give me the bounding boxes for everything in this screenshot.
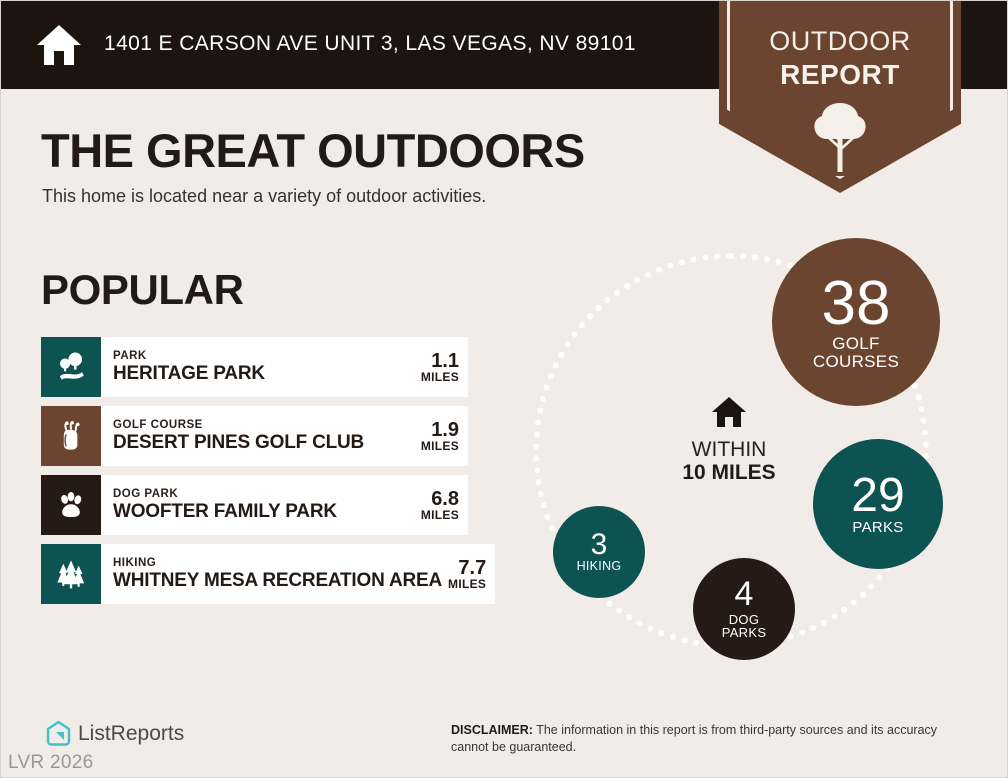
- list-item-name: HERITAGE PARK: [113, 364, 265, 384]
- list-item-body: GOLF COURSE DESERT PINES GOLF CLUB 1.9 M…: [101, 406, 468, 466]
- list-item-unit: MILES: [421, 440, 459, 452]
- badge-title-line1: OUTDOOR: [719, 26, 961, 57]
- disclaimer-label: DISCLAIMER:: [451, 723, 533, 737]
- listreports-house-icon: [45, 720, 72, 747]
- stat-value: 38: [822, 274, 891, 334]
- golf-bag-icon: [41, 406, 101, 466]
- stat-label-line1: DOG: [729, 613, 760, 627]
- tree-icon: [808, 101, 872, 173]
- list-item-unit: MILES: [421, 371, 459, 383]
- list-item[interactable]: DOG PARK WOOFTER FAMILY PARK 6.8 MILES: [41, 475, 468, 535]
- home-icon: [711, 396, 747, 428]
- list-item-category: DOG PARK: [113, 488, 337, 500]
- list-item[interactable]: HIKING WHITNEY MESA RECREATION AREA 7.7 …: [41, 544, 468, 604]
- stat-bubble-parks: 29 PARKS: [813, 439, 943, 569]
- within-label-line1: WITHIN: [641, 438, 817, 462]
- stat-bubble-dog-parks: 4 DOG PARKS: [693, 558, 795, 660]
- list-item[interactable]: GOLF COURSE DESERT PINES GOLF CLUB 1.9 M…: [41, 406, 468, 466]
- list-item-distance: 1.1: [421, 351, 459, 371]
- list-item-category: PARK: [113, 350, 265, 362]
- list-item-body: DOG PARK WOOFTER FAMILY PARK 6.8 MILES: [101, 475, 468, 535]
- list-item[interactable]: PARK HERITAGE PARK 1.1 MILES: [41, 337, 468, 397]
- stat-bubble-golf-courses: 38 GOLF COURSES: [772, 238, 940, 406]
- list-item-body: PARK HERITAGE PARK 1.1 MILES: [101, 337, 468, 397]
- home-icon: [36, 23, 82, 67]
- within-label-line2: 10 MILES: [641, 461, 817, 485]
- stat-label-line1: PARKS: [852, 520, 903, 536]
- list-item-unit: MILES: [448, 578, 486, 590]
- popular-heading: POPULAR: [41, 266, 244, 314]
- stat-label-line2: COURSES: [813, 353, 899, 371]
- outdoor-report-page: 1401 E CARSON AVE UNIT 3, LAS VEGAS, NV …: [0, 0, 1008, 778]
- list-item-category: GOLF COURSE: [113, 419, 364, 431]
- stat-value: 4: [735, 578, 754, 611]
- list-item-body: HIKING WHITNEY MESA RECREATION AREA 7.7 …: [101, 544, 495, 604]
- stat-label-line1: HIKING: [577, 560, 622, 573]
- paw-print-icon: [41, 475, 101, 535]
- list-item-name: DESERT PINES GOLF CLUB: [113, 433, 364, 453]
- popular-list: PARK HERITAGE PARK 1.1 MILES: [41, 337, 468, 613]
- page-subtitle: This home is located near a variety of o…: [42, 186, 486, 207]
- pine-trees-icon: [41, 544, 101, 604]
- stat-label-line1: GOLF: [832, 335, 880, 353]
- list-item-distance: 1.9: [421, 420, 459, 440]
- list-item-unit: MILES: [421, 509, 459, 521]
- lvr-watermark: LVR 2026: [8, 752, 94, 774]
- list-item-name: WHITNEY MESA RECREATION AREA: [113, 571, 442, 591]
- disclaimer: DISCLAIMER: The information in this repo…: [451, 722, 951, 756]
- list-item-name: WOOFTER FAMILY PARK: [113, 502, 337, 522]
- stat-value: 3: [591, 531, 608, 560]
- park-tree-icon: [41, 337, 101, 397]
- badge-title-line2: REPORT: [719, 59, 961, 91]
- stat-label-line2: PARKS: [722, 626, 767, 640]
- list-item-distance: 6.8: [421, 489, 459, 509]
- page-title: THE GREAT OUTDOORS: [41, 123, 585, 178]
- list-item-category: HIKING: [113, 557, 442, 569]
- property-address: 1401 E CARSON AVE UNIT 3, LAS VEGAS, NV …: [104, 32, 636, 56]
- stat-value: 29: [851, 473, 904, 519]
- stat-bubble-hiking: 3 HIKING: [553, 506, 645, 598]
- listreports-brand: ListReports: [78, 722, 184, 746]
- list-item-distance: 7.7: [448, 558, 486, 578]
